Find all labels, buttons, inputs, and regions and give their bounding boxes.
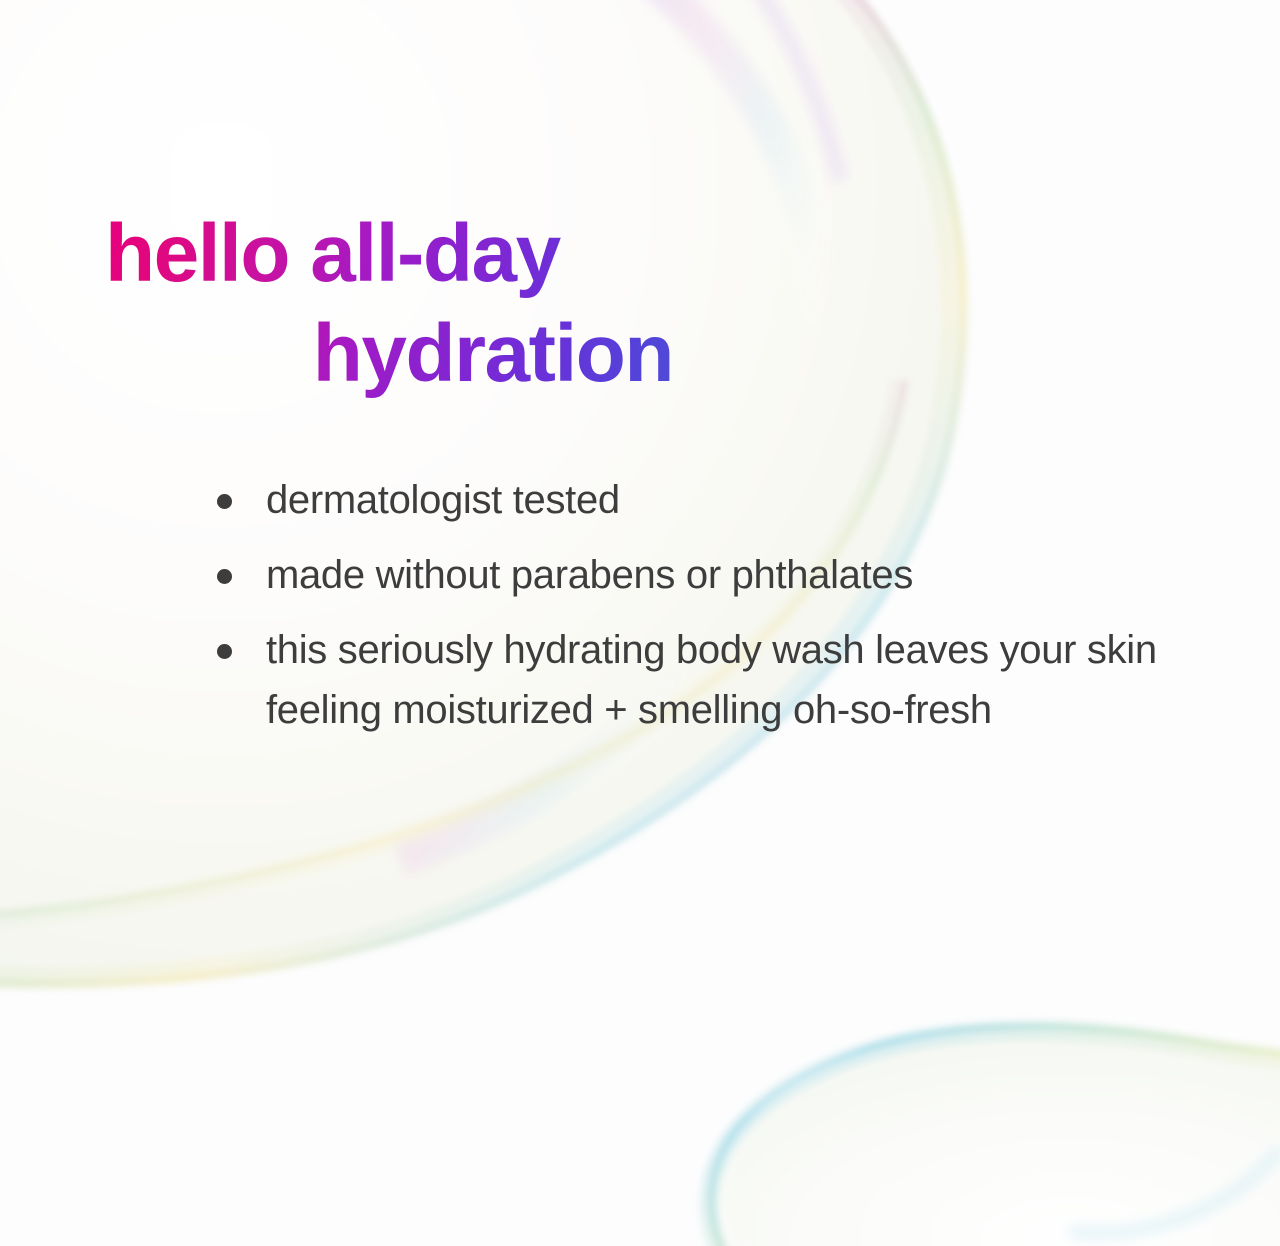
list-item-label: this seriously hydrating body wash leave… bbox=[266, 620, 1198, 742]
feature-list: dermatologist tested made without parabe… bbox=[208, 470, 1198, 741]
bullet-dot-icon bbox=[217, 569, 232, 584]
headline-line-2: hydration bbox=[105, 304, 725, 404]
list-item: this seriously hydrating body wash leave… bbox=[208, 620, 1198, 742]
page-title: hello all-day hydration bbox=[105, 204, 725, 404]
bullet-dot-icon bbox=[217, 644, 232, 659]
copy-block: hello all-day hydration dermatologist te… bbox=[0, 0, 1280, 1246]
product-claims-banner: hello all-day hydration dermatologist te… bbox=[0, 0, 1280, 1246]
list-item-label: dermatologist tested bbox=[266, 470, 1198, 531]
list-item: made without parabens or phthalates bbox=[208, 545, 1198, 606]
list-item: dermatologist tested bbox=[208, 470, 1198, 531]
bullet-dot-icon bbox=[217, 494, 232, 509]
headline-line-1: hello all-day bbox=[105, 204, 725, 304]
list-item-label: made without parabens or phthalates bbox=[266, 545, 1198, 606]
